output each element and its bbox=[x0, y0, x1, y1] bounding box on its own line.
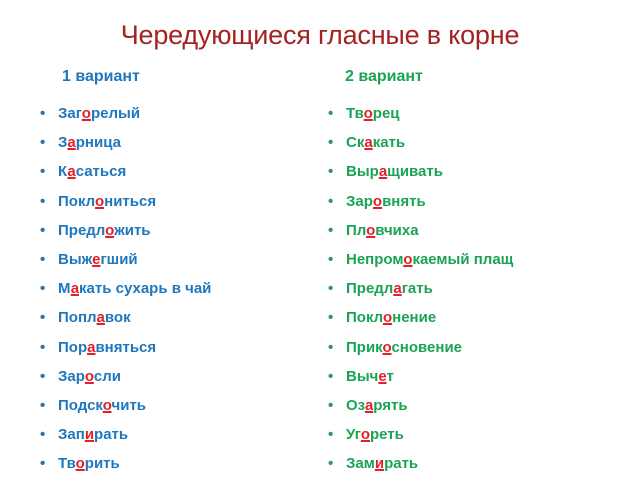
page-title: Чередующиеся гласные в корне bbox=[0, 19, 640, 51]
word-prefix: Выч bbox=[346, 368, 378, 385]
word-suffix: рница bbox=[76, 134, 121, 151]
word-suffix: сновение bbox=[391, 339, 462, 356]
highlighted-vowel: а bbox=[393, 280, 401, 297]
list-item: Предлагать bbox=[322, 278, 640, 299]
highlighted-vowel: о bbox=[364, 105, 373, 122]
highlighted-vowel: а bbox=[71, 280, 79, 297]
word-suffix: сли bbox=[94, 368, 121, 385]
highlighted-vowel: а bbox=[364, 134, 372, 151]
word-suffix: гший bbox=[100, 251, 137, 268]
list-item: Предложить bbox=[34, 220, 334, 241]
word-prefix: Тв bbox=[346, 105, 364, 122]
word-suffix: внять bbox=[382, 193, 426, 210]
word-prefix: Непром bbox=[346, 251, 403, 268]
list-item: Выращивать bbox=[322, 161, 640, 182]
highlighted-vowel: о bbox=[105, 222, 114, 239]
word-suffix: рать bbox=[94, 426, 128, 443]
slide-root: Чередующиеся гласные в корне 1 вариант 2… bbox=[0, 0, 640, 480]
word-prefix: Выр bbox=[346, 163, 379, 180]
word-suffix: вчиха bbox=[375, 222, 418, 239]
word-prefix: Зар bbox=[346, 193, 373, 210]
word-suffix: рить bbox=[85, 455, 120, 472]
list-item: Касаться bbox=[34, 161, 334, 182]
word-suffix: вок bbox=[105, 309, 131, 326]
word-suffix: релый bbox=[91, 105, 140, 122]
word-prefix: Зар bbox=[58, 368, 85, 385]
word-prefix: Зап bbox=[58, 426, 85, 443]
word-suffix: жить bbox=[114, 222, 150, 239]
highlighted-vowel: о bbox=[373, 193, 382, 210]
word-suffix: щивать bbox=[387, 163, 443, 180]
list-item: Заровнять bbox=[322, 191, 640, 212]
list-item: Непромокаемый плащ bbox=[322, 249, 640, 270]
word-suffix: ниться bbox=[104, 193, 156, 210]
word-prefix: Предл bbox=[58, 222, 105, 239]
list-item: Выжегший bbox=[34, 249, 334, 270]
word-prefix: Выж bbox=[58, 251, 92, 268]
word-suffix: вняться bbox=[95, 339, 156, 356]
list-item: Угореть bbox=[322, 424, 640, 445]
word-prefix: Уг bbox=[346, 426, 361, 443]
word-suffix: нение bbox=[392, 309, 436, 326]
list-item: Подскочить bbox=[34, 395, 334, 416]
word-suffix: т bbox=[387, 368, 394, 385]
list-item: Зарница bbox=[34, 132, 334, 153]
highlighted-vowel: а bbox=[379, 163, 387, 180]
word-prefix: Тв bbox=[58, 455, 76, 472]
highlighted-vowel: о bbox=[383, 309, 392, 326]
highlighted-vowel: о bbox=[361, 426, 370, 443]
highlighted-vowel: о bbox=[95, 193, 104, 210]
word-suffix: гать bbox=[402, 280, 433, 297]
word-list-variant-1: ЗагорелыйЗарницаКасатьсяПоклонитьсяПредл… bbox=[34, 103, 334, 482]
word-prefix: Зам bbox=[346, 455, 375, 472]
word-prefix: З bbox=[58, 134, 67, 151]
word-prefix: Покл bbox=[58, 193, 95, 210]
highlighted-vowel: а bbox=[67, 163, 75, 180]
word-suffix: рять bbox=[373, 397, 407, 414]
list-item: Загорелый bbox=[34, 103, 334, 124]
highlighted-vowel: о bbox=[76, 455, 85, 472]
highlighted-vowel: о bbox=[82, 105, 91, 122]
list-item: Запирать bbox=[34, 424, 334, 445]
list-item: Скакать bbox=[322, 132, 640, 153]
list-item: Поклониться bbox=[34, 191, 334, 212]
word-suffix: каемый плащ bbox=[412, 251, 513, 268]
word-prefix: Пл bbox=[346, 222, 366, 239]
highlighted-vowel: е bbox=[378, 368, 386, 385]
word-prefix: М bbox=[58, 280, 71, 297]
list-item: Прикосновение bbox=[322, 337, 640, 358]
word-suffix: рать bbox=[384, 455, 418, 472]
list-item: Макать сухарь в чай bbox=[34, 278, 334, 299]
word-prefix: Попл bbox=[58, 309, 97, 326]
word-prefix: Заг bbox=[58, 105, 82, 122]
word-prefix: Пор bbox=[58, 339, 87, 356]
word-prefix: Ск bbox=[346, 134, 364, 151]
word-suffix: кать сухарь в чай bbox=[79, 280, 211, 297]
highlighted-vowel: о bbox=[85, 368, 94, 385]
list-item: Заросли bbox=[34, 366, 334, 387]
word-suffix: кать bbox=[373, 134, 405, 151]
highlighted-vowel: и bbox=[85, 426, 94, 443]
highlighted-vowel: и bbox=[375, 455, 384, 472]
highlighted-vowel: о bbox=[103, 397, 112, 414]
list-item: Творец bbox=[322, 103, 640, 124]
list-item: Вычет bbox=[322, 366, 640, 387]
word-suffix: реть bbox=[370, 426, 404, 443]
word-list-variant-2: ТворецСкакатьВыращиватьЗаровнятьПловчиха… bbox=[322, 103, 640, 482]
column-heading-variant-2: 2 вариант bbox=[345, 67, 423, 87]
column-heading-variant-1: 1 вариант bbox=[62, 67, 140, 87]
word-prefix: К bbox=[58, 163, 67, 180]
list-item: Пловчиха bbox=[322, 220, 640, 241]
list-item: Озарять bbox=[322, 395, 640, 416]
list-item: Творить bbox=[34, 453, 334, 474]
word-prefix: Подск bbox=[58, 397, 103, 414]
word-prefix: Покл bbox=[346, 309, 383, 326]
word-prefix: Прик bbox=[346, 339, 382, 356]
highlighted-vowel: о bbox=[366, 222, 375, 239]
word-prefix: Оз bbox=[346, 397, 365, 414]
word-suffix: саться bbox=[76, 163, 127, 180]
word-prefix: Предл bbox=[346, 280, 393, 297]
word-suffix: рец bbox=[373, 105, 400, 122]
list-item: Поплавок bbox=[34, 307, 334, 328]
list-item: Поравняться bbox=[34, 337, 334, 358]
word-suffix: чить bbox=[112, 397, 147, 414]
highlighted-vowel: а bbox=[67, 134, 75, 151]
highlighted-vowel: а bbox=[97, 309, 105, 326]
list-item: Поклонение bbox=[322, 307, 640, 328]
list-item: Замирать bbox=[322, 453, 640, 474]
